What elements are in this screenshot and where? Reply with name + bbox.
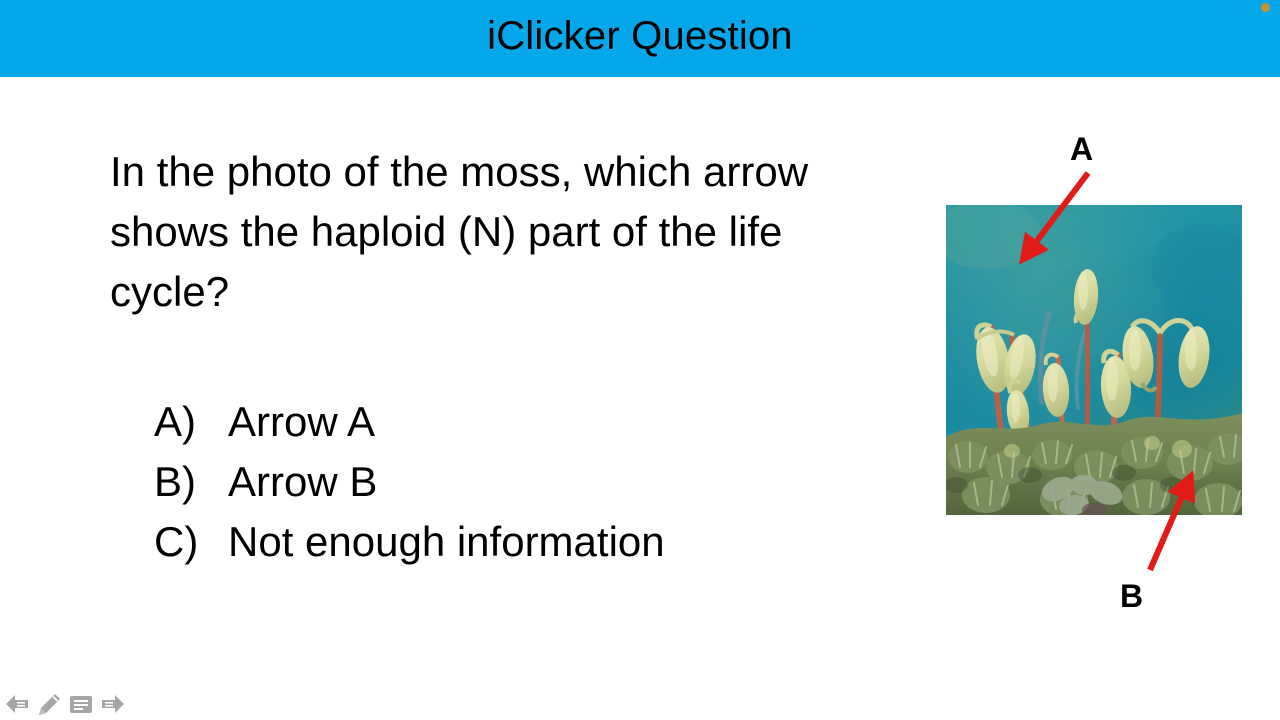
arrow-label-b: B bbox=[1120, 578, 1143, 615]
arrow-label-a: A bbox=[1070, 131, 1093, 168]
list-item[interactable]: C) Not enough information bbox=[154, 512, 854, 572]
previous-arrow-icon[interactable] bbox=[4, 692, 30, 716]
option-label: Arrow A bbox=[228, 392, 375, 452]
answer-options-list: A) Arrow A B) Arrow B C) Not enough info… bbox=[154, 392, 854, 572]
moss-photo-graphic bbox=[946, 205, 1242, 515]
list-item[interactable]: A) Arrow A bbox=[154, 392, 854, 452]
next-arrow-icon[interactable] bbox=[100, 692, 126, 716]
navigation-toolbar bbox=[4, 690, 134, 718]
moss-photograph bbox=[946, 205, 1242, 515]
option-label: Not enough information bbox=[228, 512, 665, 572]
option-letter: B) bbox=[154, 452, 228, 512]
corner-dot bbox=[1261, 3, 1270, 12]
option-label: Arrow B bbox=[228, 452, 377, 512]
option-letter: C) bbox=[154, 512, 228, 572]
list-item[interactable]: B) Arrow B bbox=[154, 452, 854, 512]
question-text: In the photo of the moss, which arrow sh… bbox=[110, 142, 850, 322]
page-title: iClicker Question bbox=[0, 0, 1280, 77]
slide-canvas: iClicker Question In the photo of the mo… bbox=[0, 0, 1280, 720]
header-bar: iClicker Question bbox=[0, 0, 1280, 77]
notes-icon[interactable] bbox=[68, 692, 94, 716]
pen-icon[interactable] bbox=[36, 692, 62, 716]
option-letter: A) bbox=[154, 392, 228, 452]
